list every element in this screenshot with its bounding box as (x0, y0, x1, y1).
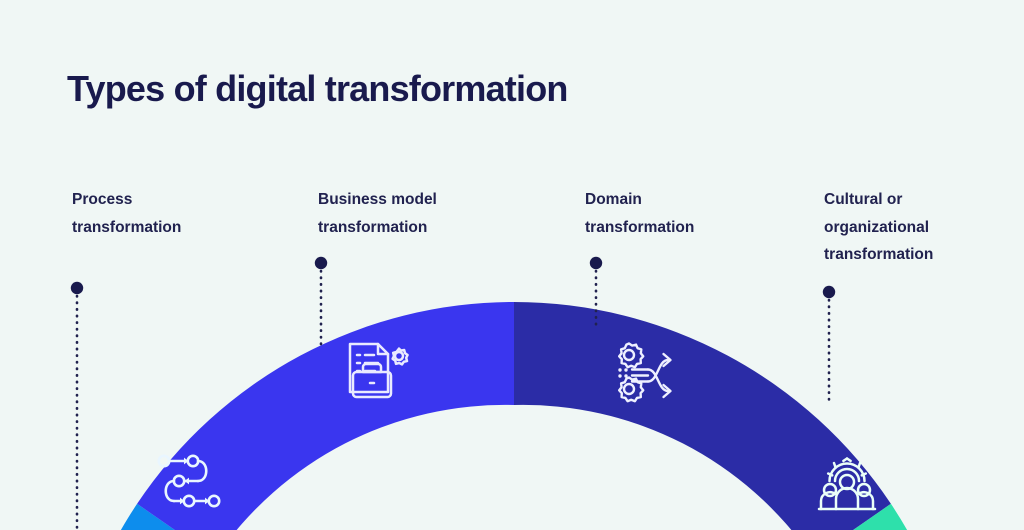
leader-dot-process (71, 282, 83, 294)
arc-segment-domain[interactable] (514, 302, 891, 530)
leader-dots (71, 257, 835, 298)
arc-chart (0, 0, 1024, 530)
arc-ring (61, 302, 967, 530)
arc-segment-business-model[interactable] (137, 302, 514, 530)
infographic-canvas: Types of digital transformation Process … (0, 0, 1024, 530)
leader-dot-domain (590, 257, 602, 269)
leader-dot-business-model (315, 257, 327, 269)
leader-dot-cultural-organizational (823, 286, 835, 298)
